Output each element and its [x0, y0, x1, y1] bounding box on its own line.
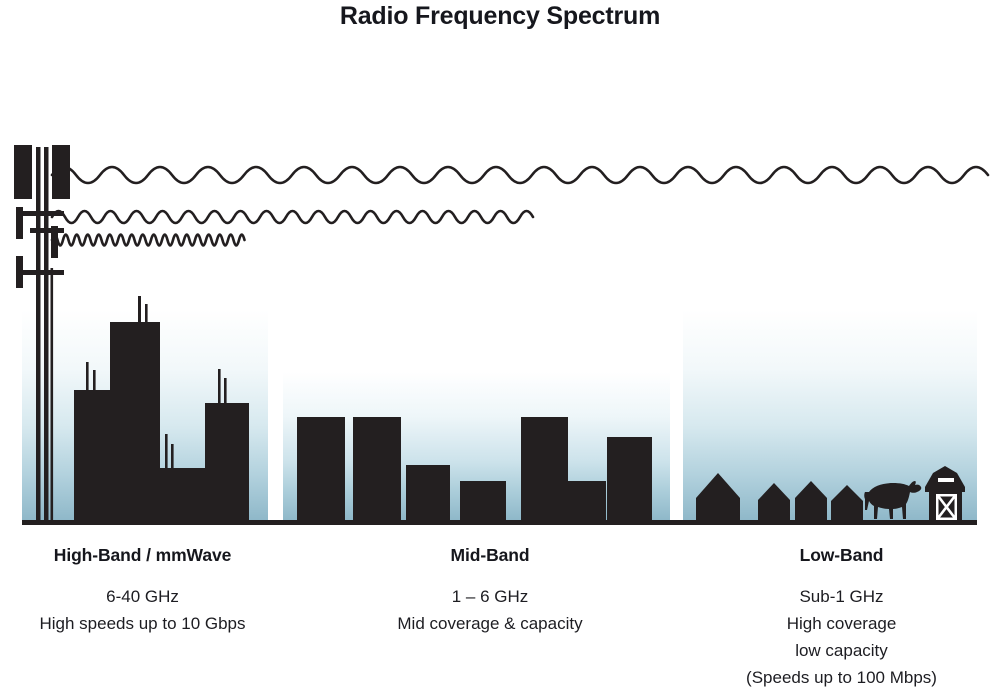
tower-crossbar-lower — [16, 270, 64, 275]
tower-mast-left — [36, 147, 41, 520]
barn-hayloft-window — [938, 478, 954, 482]
band-block-high: High-Band / mmWave 6-40 GHz High speeds … — [0, 545, 285, 637]
band-title-mid: Mid-Band — [330, 545, 650, 566]
building-spire — [224, 378, 227, 404]
band-block-mid: Mid-Band 1 – 6 GHz Mid coverage & capaci… — [330, 545, 650, 637]
building — [205, 403, 249, 520]
band-desc-line: (Speeds up to 100 Mbps) — [683, 664, 1000, 691]
radio-waves — [52, 167, 988, 246]
building-spire — [171, 444, 174, 469]
building — [460, 481, 506, 520]
antenna-panel-mid-left — [16, 207, 23, 239]
band-desc-line: Mid coverage & capacity — [330, 610, 650, 637]
building — [406, 465, 450, 520]
tower-crossbar-mid — [30, 228, 64, 233]
band-desc-line: High coverage — [683, 610, 1000, 637]
antenna-panel-top-right — [52, 145, 70, 199]
band-desc-high: 6-40 GHz High speeds up to 10 Gbps — [0, 583, 285, 637]
building-tall — [110, 322, 160, 520]
band-desc-line: 1 – 6 GHz — [330, 583, 650, 610]
building-spire — [86, 362, 89, 392]
band-title-high: High-Band / mmWave — [0, 545, 285, 566]
tower-mast-lower-thin — [51, 268, 54, 520]
high-frequency-wave — [52, 235, 245, 246]
antenna-panel-top-left — [14, 145, 32, 199]
building — [74, 390, 110, 520]
building — [521, 417, 568, 520]
building — [297, 417, 345, 520]
building-short — [160, 468, 205, 520]
band-desc-line: Sub-1 GHz — [683, 583, 1000, 610]
band-labels: High-Band / mmWave 6-40 GHz High speeds … — [0, 545, 1000, 700]
low-frequency-wave — [52, 167, 988, 183]
antenna-panel-lower — [16, 256, 23, 288]
tower-crossbar-upper — [16, 211, 64, 216]
building-spire — [145, 304, 148, 324]
building-spire — [93, 370, 96, 392]
building-spire — [165, 434, 168, 469]
band-desc-low: Sub-1 GHz High coverage low capacity (Sp… — [683, 583, 1000, 691]
infographic-stage: Radio Frequency Spectrum — [0, 0, 1000, 700]
tower-mast-right — [44, 147, 49, 520]
building-spire — [138, 296, 141, 324]
mid-frequency-wave — [52, 211, 533, 223]
building-spire — [218, 369, 221, 404]
building — [353, 417, 401, 520]
band-desc-line: High speeds up to 10 Gbps — [0, 610, 285, 637]
building — [607, 437, 652, 520]
building — [568, 481, 606, 520]
ground-baseline — [22, 520, 977, 525]
band-desc-line: low capacity — [683, 637, 1000, 664]
band-block-low: Low-Band Sub-1 GHz High coverage low cap… — [683, 545, 1000, 691]
band-desc-line: 6-40 GHz — [0, 583, 285, 610]
band-title-low: Low-Band — [683, 545, 1000, 566]
band-desc-mid: 1 – 6 GHz Mid coverage & capacity — [330, 583, 650, 637]
